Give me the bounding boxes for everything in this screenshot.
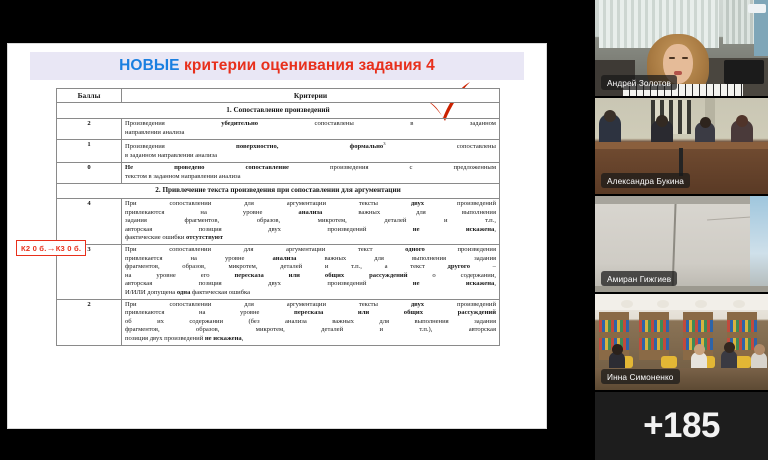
table-row: 3При сопоставлении для аргументации текс… — [57, 244, 500, 299]
participant-name: Инна Симоненко — [601, 369, 680, 384]
conference-window: НОВЫЕ критерии оценивания задания 4 Балл… — [0, 0, 768, 456]
table-row: 4При сопоставлении для аргументации текс… — [57, 198, 500, 244]
criteria-cell: Не проведено сопоставление произведения … — [122, 162, 500, 183]
participant-name: Александра Букина — [601, 173, 690, 188]
criteria-cell: При сопоставлении для аргументации текст… — [122, 299, 500, 345]
more-participants-tile[interactable]: +185 — [595, 390, 768, 460]
annotation-arrow: → — [47, 243, 56, 253]
table-row: 2При сопоставлении для аргументации текс… — [57, 299, 500, 345]
score-cell: 2 — [57, 118, 122, 139]
section-heading: 1. Сопоставление произведений — [57, 103, 500, 118]
participant-tile[interactable]: Александра Букина — [595, 96, 768, 194]
table-header-row: БаллыКритерии — [57, 89, 500, 103]
participant-name: Амиран Гижгиев — [601, 271, 677, 286]
section-heading-row: 1. Сопоставление произведений — [57, 103, 500, 118]
shared-screen-area[interactable]: НОВЫЕ критерии оценивания задания 4 Балл… — [0, 0, 595, 456]
title-new-word: НОВЫЕ — [119, 57, 179, 74]
participant-tile[interactable]: Амиран Гижгиев — [595, 194, 768, 292]
table-row: 1Произведения поверхностно, формально3 с… — [57, 139, 500, 162]
score-cell: 2 — [57, 299, 122, 345]
annotation-after: К3 0 б. — [56, 244, 82, 253]
section-heading: 2. Привлечение текста произведения при с… — [57, 183, 500, 198]
participant-rail[interactable]: Андрей Золотов Александра Букина — [595, 0, 768, 456]
participant-name: Андрей Золотов — [601, 75, 677, 90]
criteria-cell: Произведения убедительно сопоставлены в … — [122, 118, 500, 139]
participant-tile[interactable]: Инна Симоненко — [595, 292, 768, 390]
participant-tile[interactable]: Андрей Золотов — [595, 0, 768, 96]
title-rest: критерии оценивания задания 4 — [180, 57, 435, 74]
column-header-score: Баллы — [57, 89, 122, 103]
annotation-callout: К2 0 б.→К3 0 б. — [16, 240, 86, 256]
annotation-before: К2 0 б. — [21, 244, 47, 253]
criteria-cell: Произведения поверхностно, формально3 со… — [122, 139, 500, 162]
overflow-participant-count: +185 — [643, 406, 720, 446]
criteria-cell: При сопоставлении для аргументации текст… — [122, 198, 500, 244]
criteria-table: БаллыКритерии1. Сопоставление произведен… — [56, 88, 500, 346]
page-title: НОВЫЕ критерии оценивания задания 4 — [119, 57, 435, 75]
table-row: 2Произведения убедительно сопоставлены в… — [57, 118, 500, 139]
section-heading-row: 2. Привлечение текста произведения при с… — [57, 183, 500, 198]
column-header-criteria: Критерии — [122, 89, 500, 103]
slide-title-band: НОВЫЕ критерии оценивания задания 4 — [30, 52, 524, 80]
table-row: 0Не проведено сопоставление произведения… — [57, 162, 500, 183]
score-cell: 0 — [57, 162, 122, 183]
score-cell: 1 — [57, 139, 122, 162]
criteria-cell: При сопоставлении для аргументации текст… — [122, 244, 500, 299]
presentation-slide[interactable]: НОВЫЕ критерии оценивания задания 4 Балл… — [8, 44, 546, 428]
score-cell: 4 — [57, 198, 122, 244]
